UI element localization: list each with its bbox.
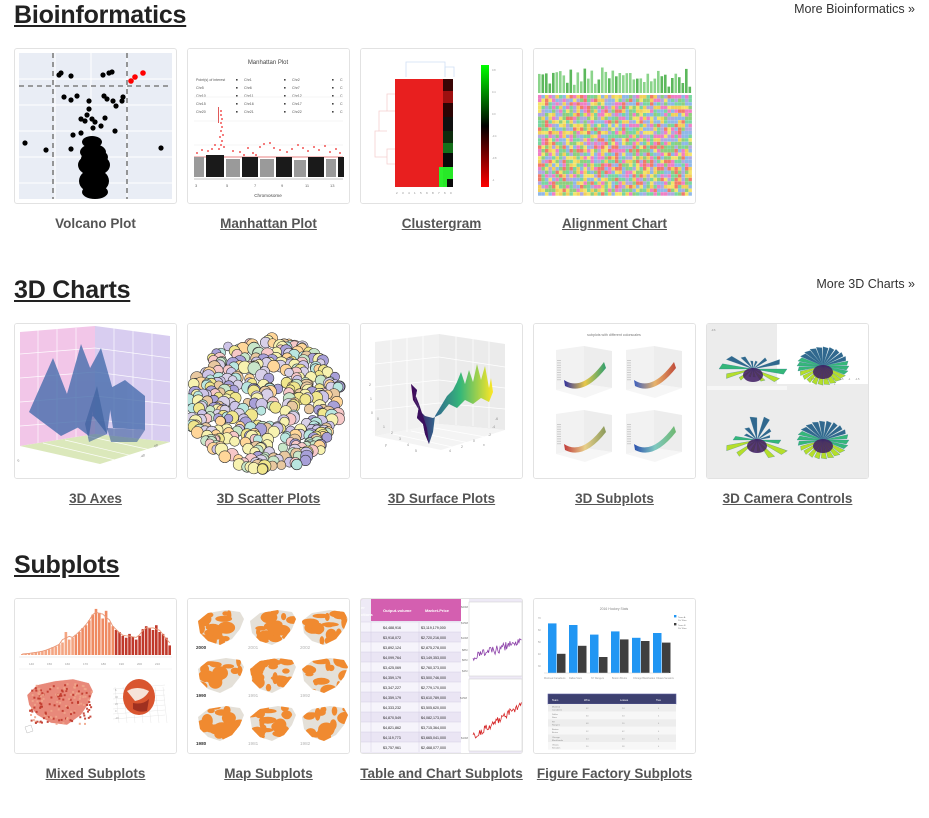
svg-text:Output-volume: Output-volume (383, 608, 412, 613)
svg-text:Wins: Wins (584, 698, 590, 702)
thumbnail-3d-axes[interactable]: 0 -40 -60 (14, 323, 177, 479)
svg-text:4: 4 (407, 443, 409, 447)
map-year-label: 1980 (196, 741, 207, 746)
card-alignment-chart[interactable]: Alignment Chart (533, 48, 696, 232)
table-cell-output-volume: $4,359,179 (383, 676, 401, 680)
table-cell-output-volume: $3,918,072 (383, 636, 401, 640)
card-clustergram[interactable]: 234 159 876 0 (360, 48, 523, 232)
card-volcano-plot[interactable]: Volcano Plot (14, 48, 177, 232)
map-year-label: 2000 (196, 645, 207, 650)
3d-axes-figure: 0 -40 -60 (15, 324, 176, 478)
thumbnail-volcano-plot[interactable] (14, 48, 177, 204)
svg-text:0: 0 (473, 439, 475, 443)
svg-text:140: 140 (29, 662, 34, 666)
svg-text:-0.5: -0.5 (839, 377, 844, 381)
svg-text:4: 4 (449, 449, 451, 453)
3d-subplots-figure: subplots with different colorscales (534, 324, 695, 478)
svg-text:er: er (361, 605, 365, 610)
svg-text:Losses: Losses (620, 698, 629, 702)
card-caption-3d-surface-plots[interactable]: 3D Surface Plots (360, 490, 523, 507)
thumbnail-manhattan-plot[interactable]: Manhattan Plot Point(s) of interest Chr5… (187, 48, 350, 204)
svg-text:Chr6: Chr6 (244, 86, 252, 90)
svg-text:2: 2 (391, 431, 393, 435)
svg-text:Chr12: Chr12 (292, 94, 302, 98)
table-cell-output-volume: $4,099,764 (383, 656, 401, 660)
svg-text:190: 190 (119, 662, 124, 666)
svg-text:Rangers: Rangers (552, 724, 560, 727)
svg-text:C: C (340, 86, 343, 90)
thumbnail-mixed-subplots[interactable]: 140150160 170180190 200210 $40200-20 (14, 598, 177, 754)
svg-text:0.0: 0.0 (492, 112, 496, 116)
table-cell-output-volume: $4,821,862 (383, 726, 401, 730)
svg-text:x: x (483, 443, 485, 447)
thumbnail-3d-surface-plots[interactable]: 210 012 345 y -6-4-2 024 x (360, 323, 523, 479)
card-map-subplots[interactable]: 200020012002199019911992198019811982 Map… (187, 598, 350, 782)
thumbnail-table-and-chart-subplots[interactable]: erctions Output-volumeMarket-Price $4,48… (360, 598, 523, 754)
fftable-cell-team: Ottawa (552, 743, 559, 746)
svg-text:$15M: $15M (460, 696, 468, 700)
card-table-and-chart-subplots[interactable]: erctions Output-volumeMarket-Price $4,48… (360, 598, 523, 782)
card-3d-camera-controls[interactable]: -0.6 1.510.5 0-0.5-1-1.5 x x 3D Camera C… (706, 323, 869, 507)
table-cell-market-price: $2,468,077,000 (421, 746, 446, 750)
svg-text:200: 200 (137, 662, 142, 666)
svg-text:0.5: 0.5 (825, 377, 829, 381)
table-cell-market-price: $4,082,173,000 (421, 716, 446, 720)
svg-text:Chr2: Chr2 (292, 78, 300, 82)
card-caption-alignment-chart[interactable]: Alignment Chart (533, 215, 696, 232)
section-title-bioinformatics[interactable]: Bioinformatics (14, 0, 186, 30)
map-year-label: 1991 (248, 693, 259, 698)
section-title-subplots[interactable]: Subplots (14, 550, 119, 580)
svg-text:Team: Team (552, 698, 558, 702)
table-cell-output-volume: $3,757,961 (383, 746, 401, 750)
thumbnail-clustergram[interactable]: 234 159 876 0 (360, 48, 523, 204)
svg-text:0: 0 (377, 417, 379, 421)
svg-text:Chr10: Chr10 (196, 94, 206, 98)
svg-text:$8M: $8M (462, 648, 468, 652)
table-cell-market-price: $2,720,216,000 (421, 636, 446, 640)
table-cell-market-price: $3,500,746,000 (421, 676, 446, 680)
svg-text:$10M: $10M (461, 636, 469, 640)
svg-text:Chr7: Chr7 (292, 86, 300, 90)
manhattan-xlabel: Chromosome (254, 193, 282, 198)
card-grid-3d-charts: 0 -40 -60 3D Axes 3D Scatter Plots (0, 323, 929, 507)
svg-text:C: C (340, 110, 343, 114)
alignment-chart-figure (534, 49, 695, 203)
svg-text:-1.5: -1.5 (855, 377, 860, 381)
svg-text:Boston Bruins: Boston Bruins (612, 677, 628, 680)
map-subplots-figure: 200020012002199019911992198019811982 (188, 599, 349, 753)
svg-text:Pct Wins: Pct Wins (678, 619, 688, 622)
table-cell-output-volume: $4,119,773 (383, 736, 401, 740)
gallery-page: Bioinformatics More Bioinformatics » (0, 0, 929, 818)
table-cell-output-volume: $4,333,232 (383, 706, 401, 710)
card-figure-factory-subplots[interactable]: 2016 Hockey Stats Montreal CanadiensDall… (533, 598, 696, 782)
svg-text:-20: -20 (115, 716, 119, 720)
thumbnail-alignment-chart[interactable] (533, 48, 696, 204)
svg-text:2: 2 (369, 383, 371, 387)
card-manhattan-plot[interactable]: Manhattan Plot Point(s) of interest Chr5… (187, 48, 350, 232)
table-cell-output-volume: $4,359,179 (383, 696, 401, 700)
thumbnail-3d-subplots[interactable]: subplots with different colorscales (533, 323, 696, 479)
svg-text:0.8: 0.8 (492, 68, 496, 72)
mixed-subplots-figure: 140150160 170180190 200210 $40200-20 (15, 599, 176, 753)
thumbnail-3d-scatter-plots[interactable] (187, 323, 350, 479)
svg-text:1.5: 1.5 (811, 377, 815, 381)
svg-text:-0.8: -0.8 (492, 156, 497, 160)
svg-text:180: 180 (101, 662, 106, 666)
svg-text:C: C (340, 94, 343, 98)
card-caption-map-subplots[interactable]: Map Subplots (187, 765, 350, 782)
card-caption-3d-camera-controls[interactable]: 3D Camera Controls (706, 490, 869, 507)
fftable-cell-team: Boston (552, 728, 559, 731)
map-year-label: 1992 (300, 693, 311, 698)
svg-text:Market-Price: Market-Price (425, 608, 450, 613)
section-header: Subplots (0, 550, 929, 586)
svg-text:170: 170 (83, 662, 88, 666)
svg-text:Chicago Blackhawks: Chicago Blackhawks (633, 677, 656, 680)
section-subplots: Subplots 140150160 170180190 200210 (0, 550, 929, 782)
svg-text:3: 3 (399, 437, 401, 441)
svg-text:$6M: $6M (462, 658, 468, 662)
card-caption-mixed-subplots[interactable]: Mixed Subplots (14, 765, 177, 782)
svg-text:$15M: $15M (461, 621, 469, 625)
table-cell-output-volume: $3,425,069 (383, 666, 401, 670)
map-year-label: 1982 (300, 741, 311, 746)
card-mixed-subplots[interactable]: 140150160 170180190 200210 $40200-20 Mix… (14, 598, 177, 782)
table-cell-market-price: $2,875,278,000 (421, 646, 446, 650)
table-cell-output-volume: $4,870,549 (383, 716, 401, 720)
section-header: Bioinformatics More Bioinformatics » (0, 0, 929, 36)
thumbnail-map-subplots[interactable]: 200020012002199019911992198019811982 (187, 598, 350, 754)
svg-text:1: 1 (370, 397, 372, 401)
map-year-label: 2002 (300, 645, 311, 650)
card-caption-volcano-plot[interactable]: Volcano Plot (14, 215, 177, 232)
svg-text:210: 210 (155, 662, 160, 666)
svg-text:160: 160 (65, 662, 70, 666)
map-year-label: 2001 (248, 645, 259, 650)
card-caption-3d-subplots[interactable]: 3D Subplots (533, 490, 696, 507)
card-3d-scatter-plots[interactable]: 3D Scatter Plots (187, 323, 350, 507)
svg-text:ctions: ctions (361, 612, 374, 617)
table-chart-figure: erctions Output-volumeMarket-Price $4,48… (361, 599, 522, 753)
svg-text:Chr1: Chr1 (244, 78, 252, 82)
svg-text:Chr20: Chr20 (196, 110, 206, 114)
svg-text:y: y (385, 443, 387, 447)
svg-text:2: 2 (461, 445, 463, 449)
fftable-cell-team: Dallas (552, 714, 558, 716)
svg-text:Chr11: Chr11 (244, 94, 254, 98)
svg-text:Chr17: Chr17 (292, 102, 302, 106)
card-caption-3d-axes[interactable]: 3D Axes (14, 490, 177, 507)
card-caption-3d-scatter-plots[interactable]: 3D Scatter Plots (187, 490, 350, 507)
svg-text:150: 150 (47, 662, 52, 666)
svg-text:Ties: Ties (656, 698, 662, 702)
svg-text:Dallas Stars: Dallas Stars (569, 677, 583, 680)
svg-text:0: 0 (371, 411, 373, 415)
table-cell-market-price: $3,715,364,000 (421, 726, 446, 730)
fftable-cell-team: Montreal (552, 705, 561, 708)
svg-text:Point(s) of interest: Point(s) of interest (196, 78, 225, 82)
card-3d-axes[interactable]: 0 -40 -60 3D Axes (14, 323, 177, 507)
svg-text:Pct Wins: Pct Wins (678, 627, 688, 630)
svg-text:Bruins: Bruins (552, 731, 558, 734)
thumbnail-3d-camera-controls[interactable]: -0.6 1.510.5 0-0.5-1-1.5 x x (706, 323, 869, 479)
svg-text:Canadiens: Canadiens (552, 709, 562, 711)
svg-text:-2: -2 (488, 433, 491, 437)
table-cell-output-volume: $3,892,124 (383, 646, 401, 650)
table-cell-market-price: $3,505,620,000 (421, 706, 446, 710)
3d-surface-figure: 210 012 345 y -6-4-2 024 x (361, 324, 522, 478)
svg-text:Team B: Team B (678, 625, 686, 627)
table-cell-output-volume: $3,347,227 (383, 686, 401, 690)
card-3d-subplots[interactable]: subplots with different colorscales 3D S… (533, 323, 696, 507)
card-caption-figure-factory-subplots[interactable]: Figure Factory Subplots (533, 765, 696, 782)
3d-subplots-title: subplots with different colorscales (587, 333, 641, 337)
svg-text:Team A: Team A (678, 616, 686, 619)
card-3d-surface-plots[interactable]: 210 012 345 y -6-4-2 024 x 3D Surface Pl… (360, 323, 523, 507)
svg-text:Chr15: Chr15 (196, 102, 206, 106)
svg-text:Chr5: Chr5 (196, 86, 204, 90)
svg-text:Ottawa Senators: Ottawa Senators (656, 677, 675, 680)
3d-camera-figure: -0.6 1.510.5 0-0.5-1-1.5 x x (707, 324, 868, 478)
table-cell-market-price: $3,610,789,000 (421, 696, 446, 700)
card-caption-manhattan-plot[interactable]: Manhattan Plot (187, 215, 350, 232)
more-bioinformatics-link[interactable]: More Bioinformatics » (794, 2, 915, 16)
table-cell-market-price: $2,760,373,000 (421, 666, 446, 670)
svg-text:13: 13 (330, 183, 335, 188)
svg-text:$4M: $4M (462, 669, 468, 673)
table-cell-market-price: $3,149,353,000 (421, 656, 446, 660)
manhattan-plot-figure: Manhattan Plot Point(s) of interest Chr5… (188, 49, 349, 203)
svg-text:$10M: $10M (461, 736, 469, 740)
svg-text:Chr22: Chr22 (292, 110, 302, 114)
table-cell-market-price: $3,119,179,000 (421, 626, 446, 630)
figfactory-title: 2016 Hockey Stats (600, 607, 629, 611)
fftable-cell-team: Chicago (552, 737, 560, 739)
section-3d-charts: 3D Charts More 3D Charts » (0, 275, 929, 507)
svg-text:-0.6: -0.6 (711, 328, 716, 332)
svg-text:$20M: $20M (461, 605, 469, 609)
svg-text:C: C (340, 102, 343, 106)
3d-scatter-figure (188, 324, 349, 478)
section-bioinformatics: Bioinformatics More Bioinformatics » (0, 0, 929, 232)
map-year-label: 1990 (196, 693, 207, 698)
svg-text:Stars: Stars (552, 716, 557, 719)
svg-text:-0.4: -0.4 (492, 134, 497, 138)
svg-text:Montreal Canadiens: Montreal Canadiens (544, 677, 566, 680)
svg-text:Blackhawks: Blackhawks (552, 740, 563, 742)
svg-text:C: C (340, 78, 343, 82)
table-cell-market-price: $3,665,041,000 (421, 736, 446, 740)
section-title-3d-charts[interactable]: 3D Charts (14, 275, 130, 305)
section-header: 3D Charts More 3D Charts » (0, 275, 929, 311)
svg-text:Chr21: Chr21 (244, 110, 254, 114)
card-caption-clustergram[interactable]: Clustergram (360, 215, 523, 232)
table-cell-market-price: $2,779,170,000 (421, 686, 446, 690)
svg-text:-4: -4 (492, 425, 495, 429)
more-3d-charts-link[interactable]: More 3D Charts » (816, 277, 915, 291)
map-year-label: 1981 (248, 741, 259, 746)
svg-text:Senators: Senators (552, 746, 560, 749)
svg-text:5: 5 (415, 449, 417, 453)
table-cell-output-volume: $4,488,916 (383, 626, 401, 630)
svg-text:0.4: 0.4 (492, 90, 496, 94)
thumbnail-figure-factory-subplots[interactable]: 2016 Hockey Stats Montreal CanadiensDall… (533, 598, 696, 754)
svg-text:Chr16: Chr16 (244, 102, 254, 106)
card-grid-subplots: 140150160 170180190 200210 $40200-20 Mix… (0, 598, 929, 782)
clustergram-figure: 234 159 876 0 (361, 49, 522, 203)
card-grid-bioinformatics: Volcano Plot Manhattan Plot Point(s) of … (0, 48, 929, 232)
figure-factory-figure: 2016 Hockey Stats Montreal CanadiensDall… (534, 599, 695, 753)
svg-text:NY Rangers: NY Rangers (591, 677, 605, 680)
svg-text:-6: -6 (495, 417, 498, 421)
volcano-plot-figure (15, 49, 176, 203)
svg-text:1: 1 (383, 425, 385, 429)
card-caption-table-and-chart-subplots[interactable]: Table and Chart Subplots (360, 765, 523, 782)
manhattan-title: Manhattan Plot (248, 60, 289, 66)
